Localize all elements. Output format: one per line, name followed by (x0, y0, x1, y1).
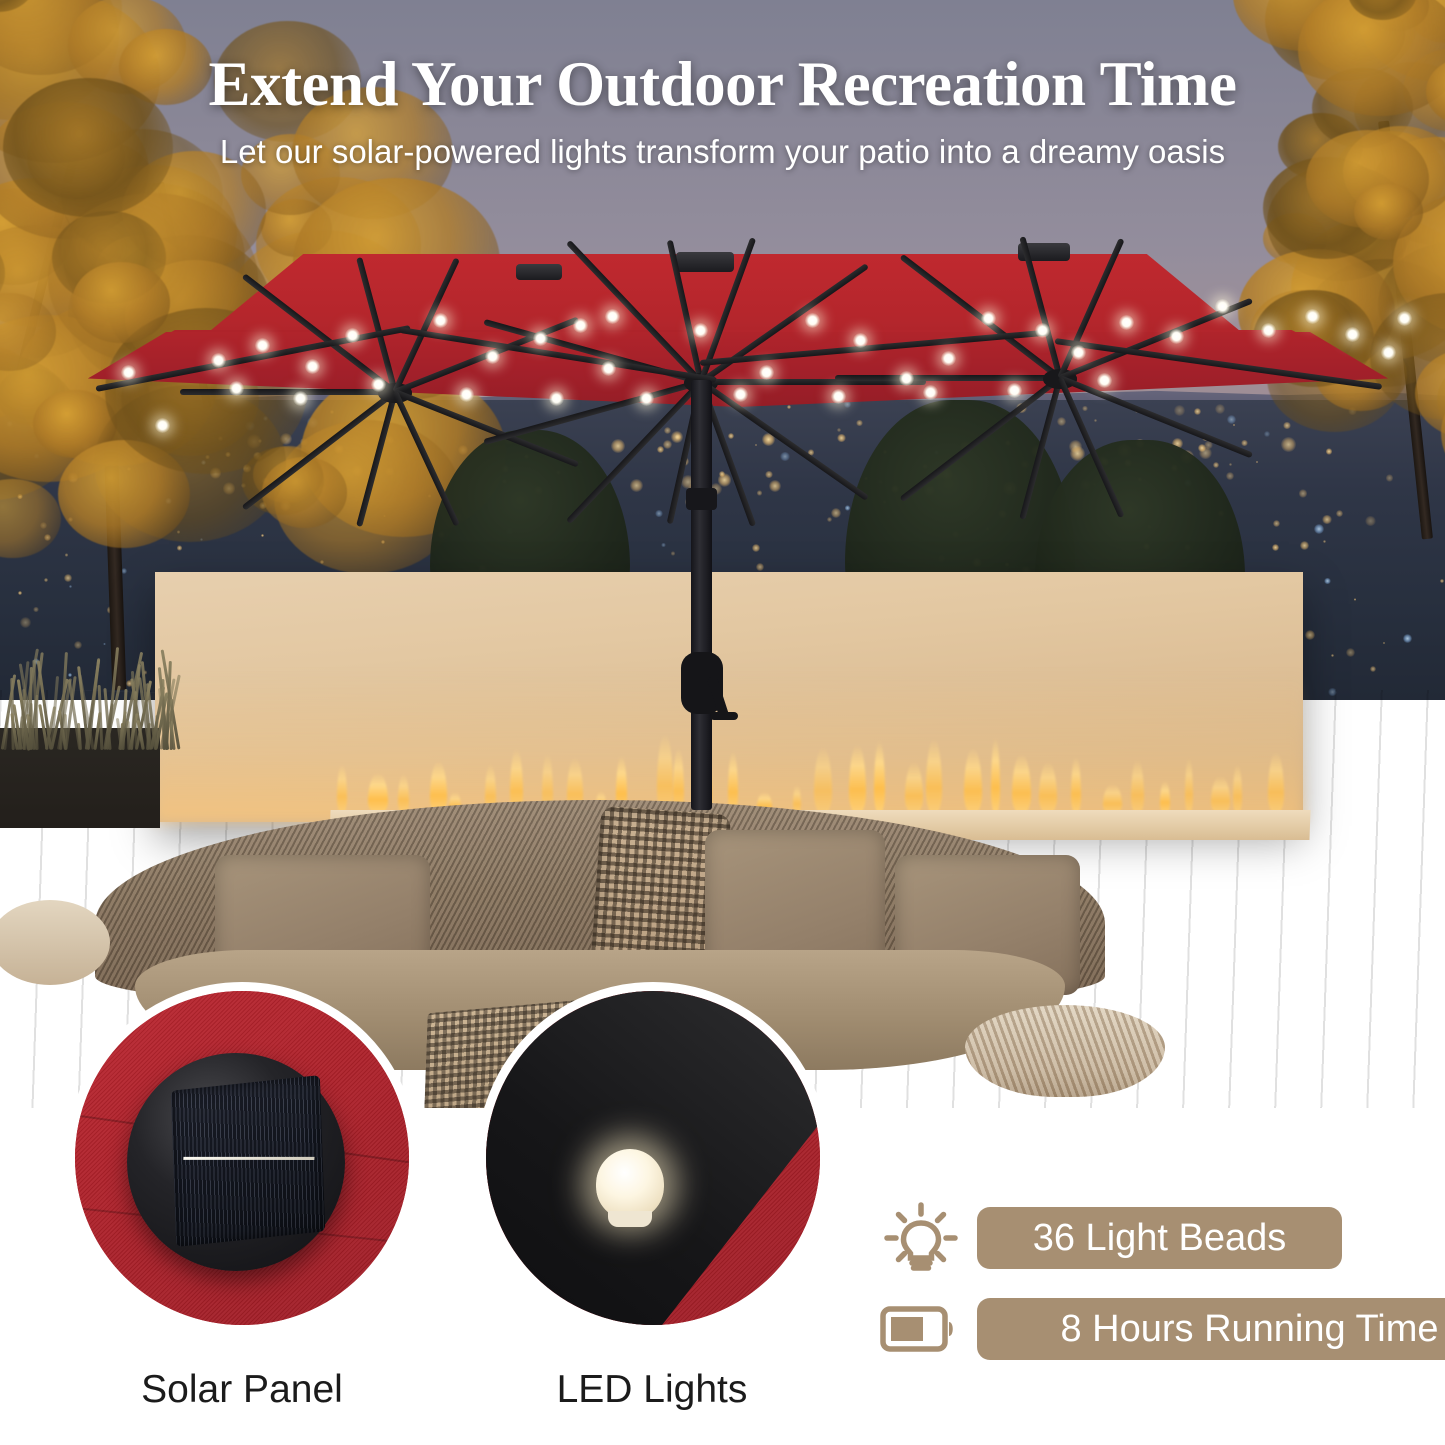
umbrella-pole (691, 380, 712, 810)
led-bead (759, 365, 774, 380)
led-bead (805, 313, 820, 328)
led-bead (831, 389, 846, 404)
led-bead (1345, 327, 1360, 342)
badge-running-time: 8 Hours Running Time (977, 1298, 1445, 1360)
canopy-rib (1019, 377, 1063, 519)
led-bead (573, 318, 588, 333)
led-bead (693, 323, 708, 338)
led-bead (605, 309, 620, 324)
flame (1211, 776, 1231, 814)
led-bead (255, 338, 270, 353)
led-bead (899, 371, 914, 386)
solar-module-body (127, 1053, 345, 1271)
led-bead (533, 331, 548, 346)
led-bead (371, 377, 386, 392)
lightbulb-icon (865, 1195, 977, 1281)
led-bead (1305, 309, 1320, 324)
led-bead (1261, 323, 1276, 338)
led-bead (941, 351, 956, 366)
solar-panel-module-left (516, 264, 562, 280)
led-bead (305, 359, 320, 374)
led-bead (485, 349, 500, 364)
marketing-image-stage: Extend Your Outdoor Recreation Time Let … (0, 0, 1445, 1445)
led-bead (923, 385, 938, 400)
led-bead (293, 391, 308, 406)
led-bead (1097, 373, 1112, 388)
canopy-rib (180, 389, 395, 395)
hero-photo: Extend Your Outdoor Recreation Time Let … (0, 0, 1445, 1108)
led-bead (1071, 345, 1086, 360)
led-bead (639, 391, 654, 406)
led-bead (1169, 329, 1184, 344)
led-bead (853, 333, 868, 348)
led-bead (459, 387, 474, 402)
solar-panel-module-canopy (676, 252, 734, 272)
solar-busbar (183, 1157, 314, 1160)
led-bead (229, 381, 244, 396)
flame (1185, 758, 1192, 814)
feature-running-time: 8 Hours Running Time (865, 1298, 1445, 1360)
led-bead (121, 365, 136, 380)
led-bead (211, 353, 226, 368)
crank-handle (710, 712, 738, 720)
led-bulb (596, 1149, 664, 1219)
led-bead (155, 418, 170, 433)
inset-led-light (477, 982, 829, 1334)
caption-led-lights: LED Lights (410, 1368, 894, 1412)
ottoman-large (965, 1005, 1165, 1097)
badge-light-beads: 36 Light Beads (977, 1207, 1342, 1269)
led-bead (981, 311, 996, 326)
flame (1233, 764, 1242, 814)
feature-light-beads: 36 Light Beads (865, 1195, 1342, 1281)
inset-solar-panel (66, 982, 418, 1334)
pole-joint (686, 488, 717, 510)
led-bead (1381, 345, 1396, 360)
led-bead (433, 313, 448, 328)
flame (1131, 760, 1143, 814)
battery-icon (865, 1300, 977, 1358)
solar-cell-surface (171, 1075, 326, 1247)
canopy-rib (241, 390, 397, 511)
led-bead (1215, 299, 1230, 314)
canopy-rib (835, 375, 1060, 381)
led-bead (1035, 323, 1050, 338)
led-bead (601, 361, 616, 376)
led-bead (1397, 311, 1412, 326)
led-bead (1007, 383, 1022, 398)
flame (1268, 752, 1284, 814)
led-bead (345, 328, 360, 343)
led-bead (549, 391, 564, 406)
led-bead (733, 387, 748, 402)
page-headline: Extend Your Outdoor Recreation Time (0, 48, 1445, 121)
page-subheadline: Let our solar-powered lights transform y… (0, 133, 1445, 171)
led-bead (1119, 315, 1134, 330)
